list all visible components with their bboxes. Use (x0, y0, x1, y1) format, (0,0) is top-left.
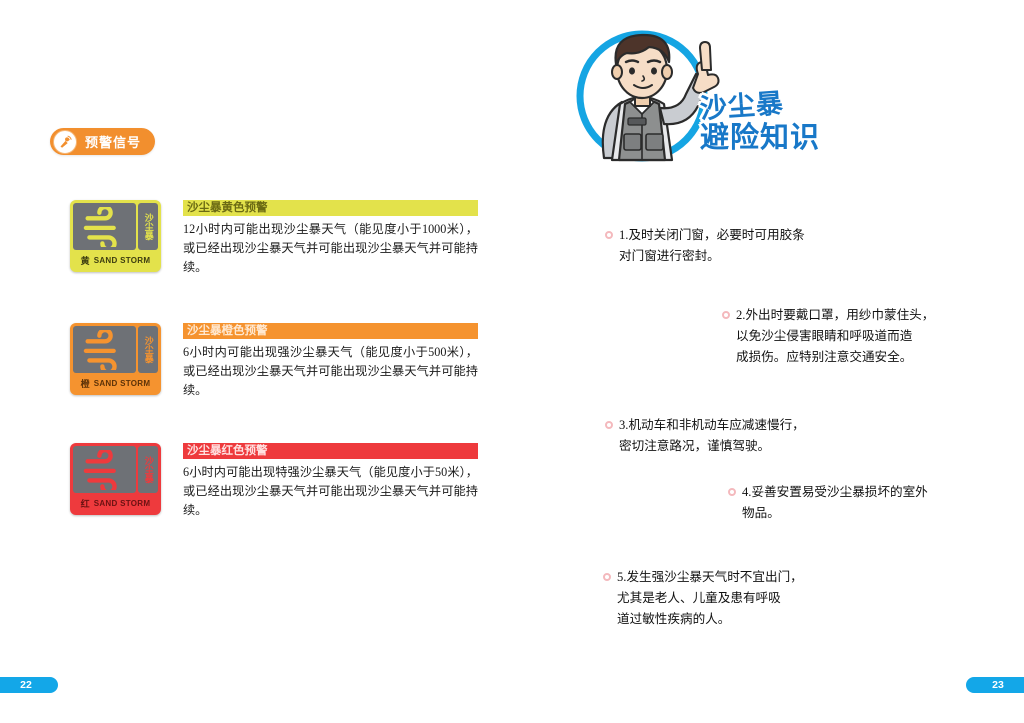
warning-level-en: SAND STORM (94, 256, 151, 265)
warning-level-cn: 黄 (81, 254, 90, 267)
hero-illustration: 沙尘暴 避险知识 (542, 8, 822, 188)
warning-level-en: SAND STORM (94, 379, 151, 388)
page-number-left: 22 (0, 677, 58, 693)
section-header-label: 预警信号 (85, 132, 141, 151)
tip-item-5: 5.发生强沙尘暴天气时不宜出门， 尤其是老人、儿童及患有呼吸 道过敏性疾病的人。 (603, 567, 803, 629)
wind-swirl-icon (73, 203, 136, 250)
spread-page: 预警信号 沙尘暴 (0, 0, 1024, 723)
tip-item-1: 1.及时关闭门窗，必要时可用胶条 对门窗进行密封。 (605, 225, 805, 267)
warning-sign-side-label: 沙尘暴 (138, 326, 158, 373)
warning-body: 12小时内可能出现沙尘暴天气（能见度小于1000米），或已经出现沙尘暴天气并可能… (183, 220, 478, 277)
warning-text-block: 沙尘暴橙色预警 6小时内可能出现强沙尘暴天气（能见度小于500米），或已经出现沙… (183, 323, 478, 400)
warning-sign-footer: 红 SAND STORM (73, 495, 158, 512)
warning-row-red: 沙尘暴 红 SAND STORM 沙尘暴红色预警 6小时内可能出现特强沙尘暴天气… (70, 443, 478, 520)
warning-sign-side-label: 沙尘暴 (138, 203, 158, 250)
tip-text: 3.机动车和非机动车应减速慢行， 密切注意路况，谨慎驾驶。 (619, 415, 805, 457)
satellite-dish-icon (53, 130, 77, 154)
page-number-right: 23 (966, 677, 1024, 693)
warning-level-cn: 红 (81, 497, 90, 510)
tip-item-4: 4.妥善安置易受沙尘暴损坏的室外 物品。 (728, 482, 928, 524)
warning-level-cn: 橙 (81, 377, 90, 390)
tip-text: 1.及时关闭门窗，必要时可用胶条 对门窗进行密封。 (619, 225, 805, 267)
warning-sign-yellow: 沙尘暴 黄 SAND STORM (70, 200, 161, 272)
warning-body: 6小时内可能出现强沙尘暴天气（能见度小于500米），或已经出现沙尘暴天气并可能出… (183, 343, 478, 400)
warning-text-block: 沙尘暴红色预警 6小时内可能出现特强沙尘暴天气（能见度小于50米），或已经出现沙… (183, 443, 478, 520)
warning-text-block: 沙尘暴黄色预警 12小时内可能出现沙尘暴天气（能见度小于1000米），或已经出现… (183, 200, 478, 277)
tip-item-3: 3.机动车和非机动车应减速慢行， 密切注意路况，谨慎驾驶。 (605, 415, 805, 457)
hero-title-line1: 沙尘暴 (699, 88, 821, 123)
wind-swirl-icon (73, 446, 136, 493)
section-header-warning-signal: 预警信号 (50, 128, 155, 155)
warning-row-yellow: 沙尘暴 黄 SAND STORM 沙尘暴黄色预警 12小时内可能出现沙尘暴天气（… (70, 200, 478, 277)
tip-text: 4.妥善安置易受沙尘暴损坏的室外 物品。 (742, 482, 928, 524)
hero-title-line2: 避险知识 (700, 124, 820, 152)
warning-body: 6小时内可能出现特强沙尘暴天气（能见度小于50米），或已经出现沙尘暴天气并可能出… (183, 463, 478, 520)
warning-title: 沙尘暴红色预警 (183, 443, 478, 459)
warning-sign-footer: 黄 SAND STORM (73, 252, 158, 269)
left-page: 预警信号 沙尘暴 (0, 0, 512, 723)
circle-bullet-icon (605, 421, 613, 429)
circle-bullet-icon (722, 311, 730, 319)
warning-row-orange: 沙尘暴 橙 SAND STORM 沙尘暴橙色预警 6小时内可能出现强沙尘暴天气（… (70, 323, 478, 400)
tip-item-2: 2.外出时要戴口罩，用纱巾蒙住头， 以免沙尘侵害眼睛和呼吸道而造 成损伤。应特别… (722, 305, 934, 367)
warning-sign-orange: 沙尘暴 橙 SAND STORM (70, 323, 161, 395)
wind-swirl-icon (73, 326, 136, 373)
hero-title: 沙尘暴 避险知识 (700, 96, 820, 153)
tip-text: 2.外出时要戴口罩，用纱巾蒙住头， 以免沙尘侵害眼睛和呼吸道而造 成损伤。应特别… (736, 305, 934, 367)
warning-sign-footer: 橙 SAND STORM (73, 375, 158, 392)
circle-bullet-icon (603, 573, 611, 581)
warning-sign-side-label: 沙尘暴 (138, 446, 158, 493)
warning-title: 沙尘暴橙色预警 (183, 323, 478, 339)
warning-level-en: SAND STORM (94, 499, 151, 508)
tip-text: 5.发生强沙尘暴天气时不宜出门， 尤其是老人、儿童及患有呼吸 道过敏性疾病的人。 (617, 567, 803, 629)
circle-bullet-icon (605, 231, 613, 239)
warning-title: 沙尘暴黄色预警 (183, 200, 478, 216)
warning-sign-red: 沙尘暴 红 SAND STORM (70, 443, 161, 515)
circle-bullet-icon (728, 488, 736, 496)
